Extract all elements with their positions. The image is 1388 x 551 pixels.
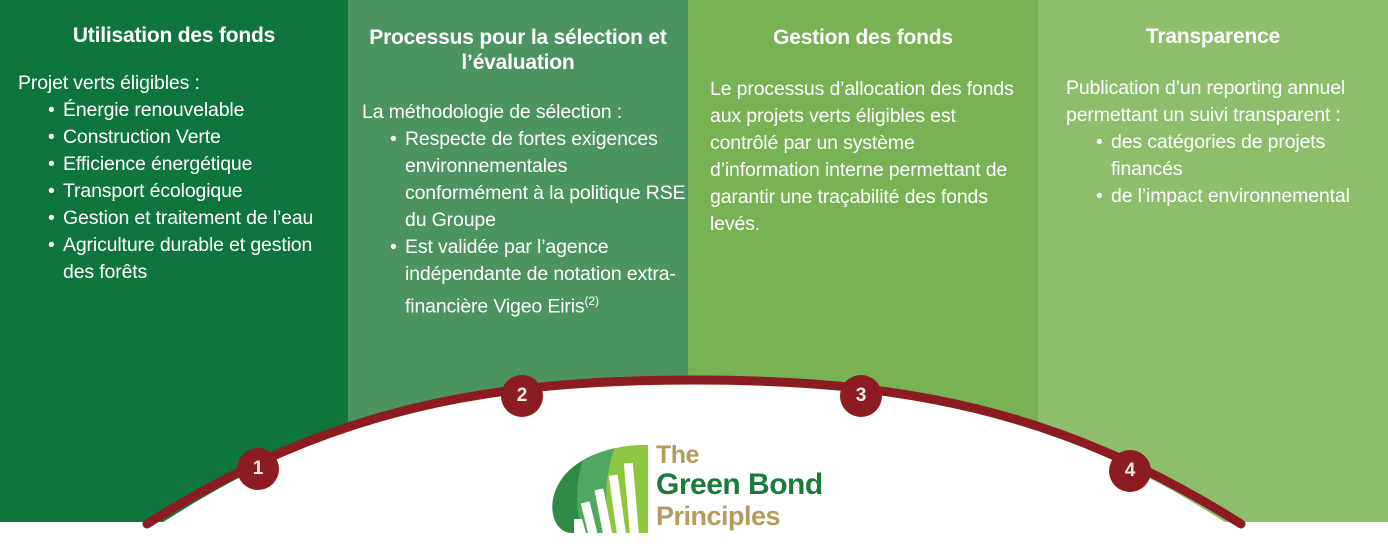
leaf-bar-chart-icon bbox=[552, 445, 652, 537]
list-item: des catégories de projets financés bbox=[1096, 129, 1384, 183]
column-paragraph-3: Le processus d’allocation des fonds aux … bbox=[710, 76, 1028, 238]
list-item: Gestion et traitement de l’eau bbox=[48, 205, 348, 232]
list-item: Construction Verte bbox=[48, 124, 348, 151]
green-bond-principles-logo: The Green Bond Principles bbox=[552, 443, 842, 539]
list-item: Agriculture durable et gestion des forêt… bbox=[48, 232, 348, 286]
step-circle-2[interactable]: 2 bbox=[501, 375, 543, 417]
footnote-marker: (2) bbox=[585, 294, 599, 308]
list-item: de l’impact environnemental bbox=[1096, 183, 1384, 210]
logo-line-principles: Principles bbox=[656, 503, 846, 530]
column-title-4: Transparence bbox=[1038, 14, 1388, 49]
column-title-1: Utilisation des fonds bbox=[0, 14, 348, 48]
column-body-1: Projet verts éligibles : Énergie renouve… bbox=[0, 70, 348, 286]
list-item: Transport écologique bbox=[48, 178, 348, 205]
list-item-text: Respecte de fortes exigences environneme… bbox=[405, 128, 685, 231]
logo-line-green-bond: Green Bond bbox=[656, 470, 846, 500]
step-circle-3[interactable]: 3 bbox=[840, 375, 882, 417]
column-lead-4: Publication d’un reporting annuel permet… bbox=[1066, 75, 1384, 129]
list-item-text: Est validée par l’agence indépendante de… bbox=[405, 236, 676, 318]
logo-line-the: The bbox=[656, 443, 846, 468]
logo-wordmark: The Green Bond Principles bbox=[656, 443, 846, 530]
column-body-3: Le processus d’allocation des fonds aux … bbox=[688, 76, 1038, 238]
column-lead-1: Projet verts éligibles : bbox=[18, 70, 348, 97]
column-body-2: La méthodologie de sélection : Respecte … bbox=[348, 99, 688, 321]
step-number-4: 4 bbox=[1125, 461, 1136, 480]
step-number-2: 2 bbox=[517, 386, 528, 405]
bullet-list-1: Énergie renouvelable Construction Verte … bbox=[48, 97, 348, 286]
step-number-1: 1 bbox=[253, 459, 264, 478]
list-item: Respecte de fortes exigences environneme… bbox=[390, 126, 688, 234]
step-number-3: 3 bbox=[856, 386, 867, 405]
list-item: Est validée par l’agence indépendante de… bbox=[390, 234, 688, 321]
column-title-3: Gestion des fonds bbox=[688, 14, 1038, 50]
list-item: Efficience énergétique bbox=[48, 151, 348, 178]
list-item: Énergie renouvelable bbox=[48, 97, 348, 124]
bullet-list-4: des catégories de projets financés de l’… bbox=[1096, 129, 1384, 210]
column-title-2: Processus pour la sélection et l’évaluat… bbox=[348, 14, 688, 75]
step-circle-1[interactable]: 1 bbox=[237, 448, 279, 490]
bullet-list-2: Respecte de fortes exigences environneme… bbox=[390, 126, 688, 321]
step-circle-4[interactable]: 4 bbox=[1109, 450, 1151, 492]
green-bond-principles-infographic: Utilisation des fonds Projet verts éligi… bbox=[0, 0, 1388, 551]
column-lead-2: La méthodologie de sélection : bbox=[362, 99, 688, 126]
column-body-4: Publication d’un reporting annuel permet… bbox=[1038, 75, 1388, 210]
